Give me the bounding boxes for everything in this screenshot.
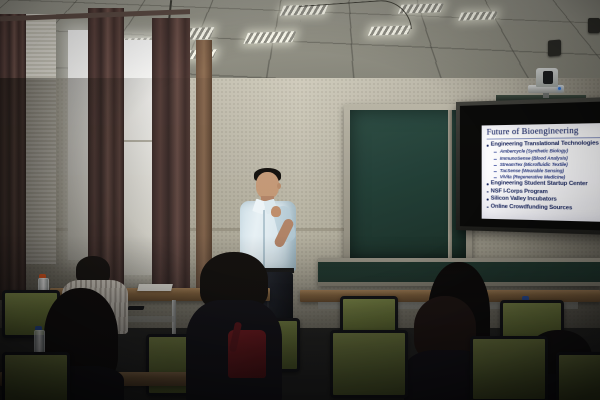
slide-bullet: Online Crowdfunding Sources [487, 203, 600, 213]
chair[interactable] [470, 336, 548, 400]
ceiling-light [458, 11, 498, 20]
chair[interactable] [2, 352, 70, 400]
chalkboard [344, 104, 472, 270]
chair[interactable] [556, 352, 600, 400]
presenter-head [256, 172, 279, 199]
presentation-slide: Future of Bioengineering Engineering Tra… [482, 123, 600, 222]
bottle-cap [35, 326, 42, 330]
chair[interactable] [330, 330, 408, 398]
paper-sheet [137, 284, 173, 291]
projection-screen: Future of Bioengineering Engineering Tra… [456, 97, 600, 235]
screen-bezel: Future of Bioengineering Engineering Tra… [460, 101, 600, 230]
chalkboard-divider [448, 110, 452, 259]
presenter-hand [271, 206, 281, 217]
bottle-cap [39, 274, 46, 278]
camera-led-icon [558, 87, 561, 90]
camera-stem [543, 93, 549, 98]
phone [127, 306, 144, 310]
classroom-photo: Future of Bioengineering Engineering Tra… [0, 0, 600, 400]
ceiling-light [243, 31, 296, 44]
presenter-ear [277, 183, 281, 189]
ceiling-speaker-icon [548, 39, 561, 56]
camera-lens-icon [543, 71, 553, 84]
ceiling-speaker-icon [588, 18, 600, 33]
slide-title-rule [487, 137, 600, 140]
slide-title: Future of Bioengineering [487, 125, 600, 137]
